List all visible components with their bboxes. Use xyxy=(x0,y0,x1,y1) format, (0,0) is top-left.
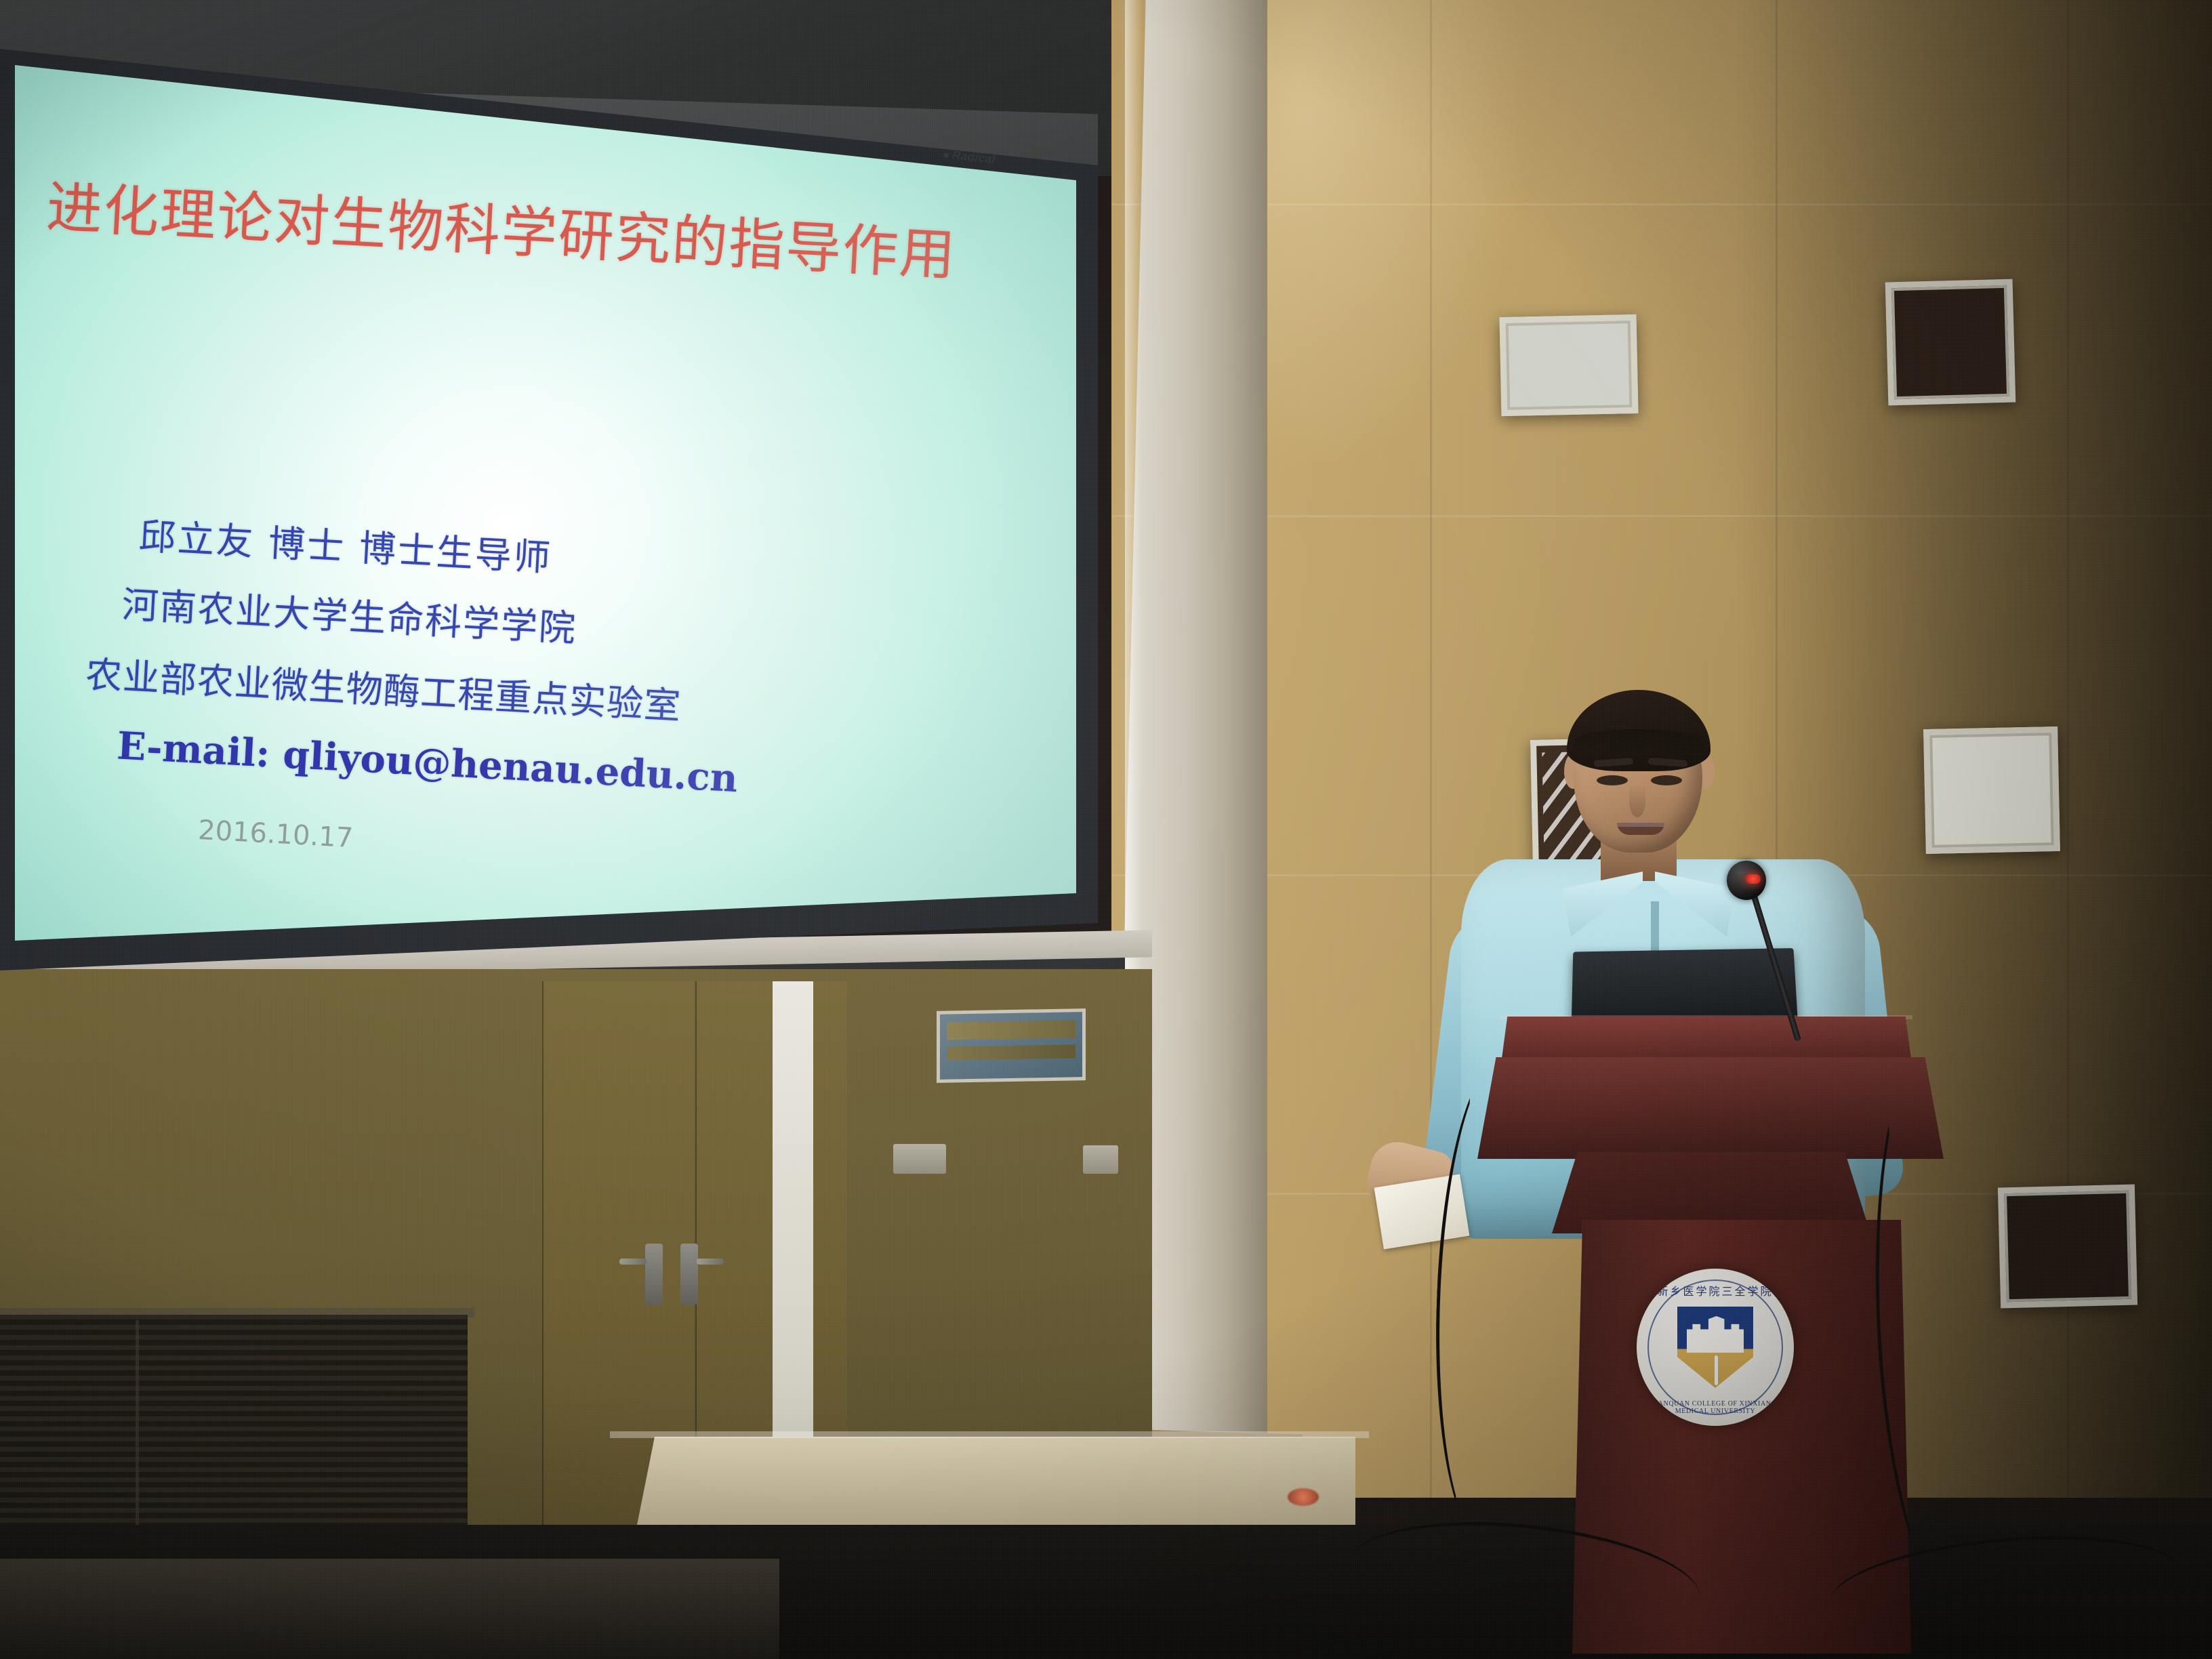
emblem-rod-of-asclepius-icon xyxy=(1715,1355,1718,1385)
speaker-nose xyxy=(1629,785,1645,817)
slide-affiliation-lab: 农业部农业微生物酶工程重点实验室 xyxy=(84,644,682,730)
podium-upper-slab xyxy=(1477,1057,1944,1159)
speaker-mouth xyxy=(1617,823,1664,835)
floor-baseboard xyxy=(610,1431,1369,1438)
slide-content: 进化理论对生物科学研究的指导作用 邱立友 博士 博士生导师 河南农业大学生命科学… xyxy=(15,65,1075,946)
stage-edge xyxy=(0,1559,779,1659)
slide-email: E-mail: qliyou@henau.edu.cn xyxy=(116,723,739,801)
floor-light-reflection xyxy=(1288,1488,1319,1506)
wall-outlet-plate[interactable] xyxy=(1083,1145,1118,1174)
brand-dot-icon xyxy=(943,152,949,159)
speaker-hair xyxy=(1567,690,1711,771)
speaker-eye-left xyxy=(1597,775,1628,785)
slide-date: 2016.10.17 xyxy=(197,815,354,854)
university-emblem: 新乡医学院三全学院 SANQUAN COLLEGE OF XINXIANG ME… xyxy=(1637,1269,1794,1426)
wall-art-frame-4 xyxy=(1998,1185,2137,1309)
projection-screen[interactable]: 进化理论对生物科学研究的指导作用 邱立友 博士 博士生导师 河南农业大学生命科学… xyxy=(15,65,1076,946)
lecture-hall-photo: 进化理论对生物科学研究的指导作用 邱立友 博士 博士生导师 河南农业大学生命科学… xyxy=(0,0,2212,1659)
speaker-eye-right xyxy=(1651,775,1682,785)
slide-affiliation-school: 河南农业大学生命科学学院 xyxy=(121,575,578,653)
wall-art-frame-3 xyxy=(1923,726,2060,854)
emblem-english-text: SANQUAN COLLEGE OF XINXIANG MEDICAL UNIV… xyxy=(1637,1400,1794,1415)
wall-switch-plate[interactable] xyxy=(893,1144,946,1174)
slide-title: 进化理论对生物科学研究的指导作用 xyxy=(45,162,928,289)
wall-art-frame-2 xyxy=(1885,279,2016,406)
microphone-led-indicator xyxy=(1746,874,1761,884)
wall-art-frame-1 xyxy=(1499,314,1638,416)
door-handle-left[interactable] xyxy=(645,1244,663,1305)
slide-author: 邱立友 博士 博士生导师 xyxy=(138,506,554,581)
door-handle-right[interactable] xyxy=(680,1244,698,1305)
wall-plaque xyxy=(937,1008,1086,1083)
emblem-chinese-text: 新乡医学院三全学院 xyxy=(1637,1282,1794,1298)
